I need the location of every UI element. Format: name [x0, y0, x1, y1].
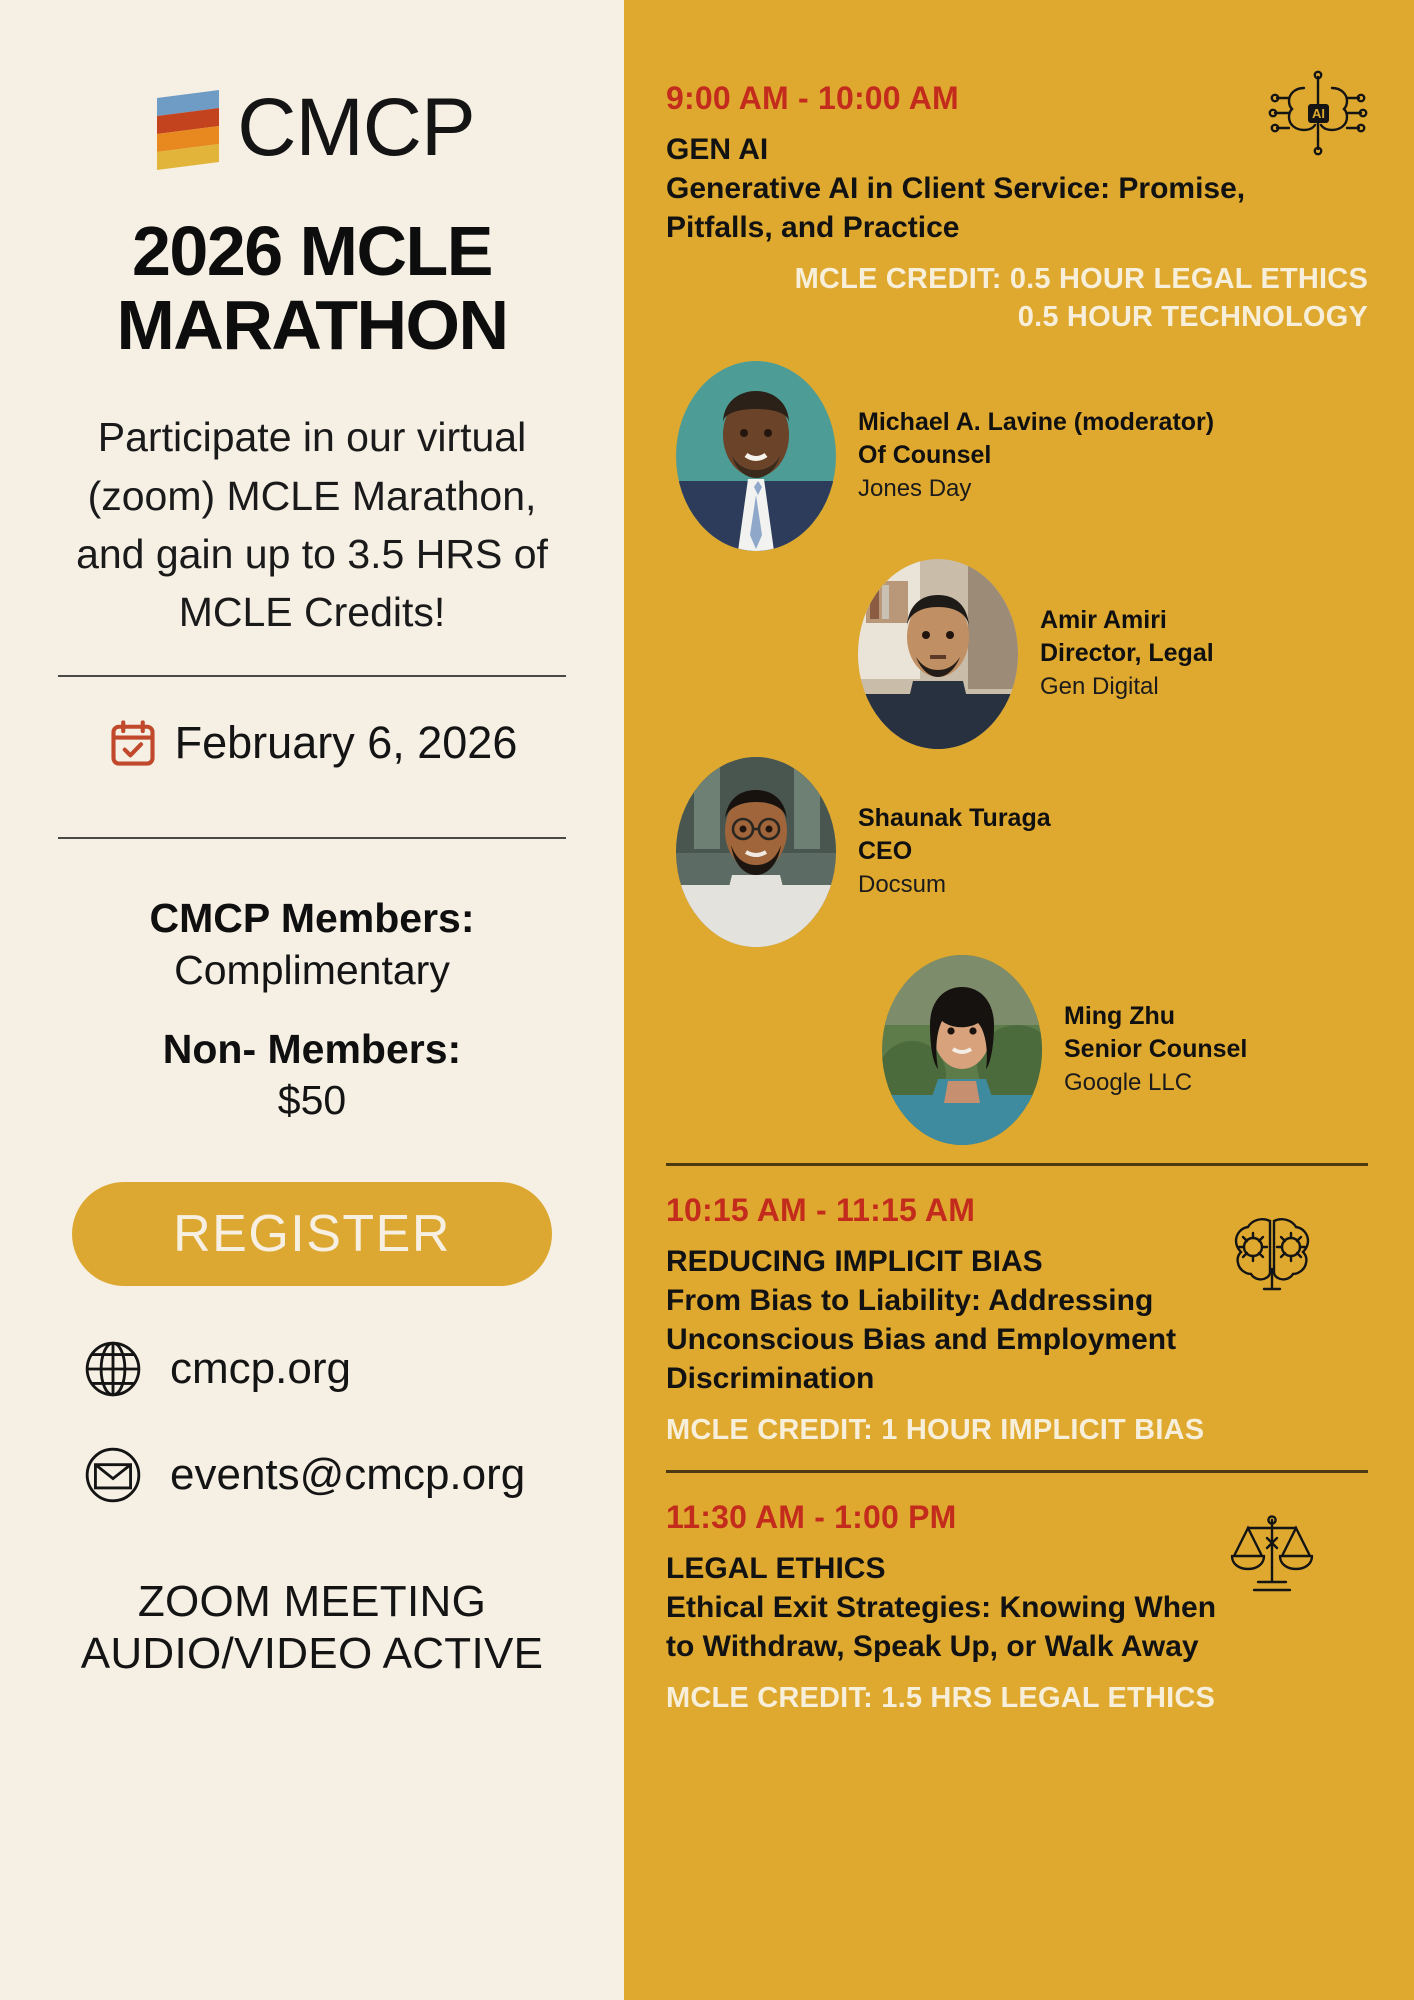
email-text: events@cmcp.org	[170, 1450, 525, 1500]
avatar	[676, 361, 836, 551]
session-1-header: 9:00 AM - 10:00 AM GEN AI Generative AI …	[666, 80, 1368, 247]
divider-bottom	[58, 837, 566, 839]
member-price-value: Complimentary	[58, 945, 566, 996]
speaker-role: Director, Legal	[1040, 637, 1214, 670]
speaker-info: Michael A. Lavine (moderator) Of Counsel…	[858, 406, 1214, 505]
speaker-card: Shaunak Turaga CEO Docsum	[666, 757, 1368, 947]
register-button-label: REGISTER	[173, 1204, 451, 1264]
speaker-org: Jones Day	[858, 473, 1214, 505]
speaker-name: Amir Amiri	[1040, 604, 1214, 637]
speaker-card: Ming Zhu Senior Counsel Google LLC	[666, 955, 1368, 1145]
pricing-block: CMCP Members: Complimentary Non- Members…	[58, 893, 566, 1126]
divider-top	[58, 675, 566, 677]
speaker-card: Amir Amiri Director, Legal Gen Digital	[666, 559, 1368, 749]
speaker-info: Amir Amiri Director, Legal Gen Digital	[1040, 604, 1214, 703]
session-divider	[666, 1163, 1368, 1166]
headshot-amir-amiri	[858, 559, 1018, 749]
avatar	[676, 757, 836, 947]
speaker-info: Shaunak Turaga CEO Docsum	[858, 802, 1051, 901]
speaker-card: Michael A. Lavine (moderator) Of Counsel…	[666, 361, 1368, 551]
left-info-panel: CMCP 2026 MCLE MARATHON Participate in o…	[0, 0, 624, 2000]
website-row[interactable]: cmcp.org	[58, 1338, 566, 1400]
speaker-name: Ming Zhu	[1064, 1000, 1247, 1033]
speaker-org: Docsum	[858, 869, 1051, 901]
page-title: 2026 MCLE MARATHON	[58, 214, 566, 362]
cmcp-logo: CMCP	[149, 86, 474, 170]
calendar-check-icon	[107, 717, 159, 769]
speaker-role: CEO	[858, 835, 1051, 868]
envelope-icon	[82, 1444, 144, 1506]
session-1-topic: GEN AI	[666, 131, 1258, 169]
zoom-meeting-note: ZOOM MEETING AUDIO/VIDEO ACTIVE	[58, 1576, 566, 1680]
session-1-title: Generative AI in Client Service: Promise…	[666, 169, 1258, 247]
session-1-credit-line-1: MCLE CREDIT: 0.5 HOUR LEGAL ETHICS	[666, 261, 1368, 299]
headshot-ming-zhu	[882, 955, 1042, 1145]
session-gen-ai: AI 9:00 AM - 10:00 AM GEN AI Generative …	[666, 80, 1368, 1145]
scales-of-justice-icon	[1222, 1510, 1322, 1600]
speaker-org: Gen Digital	[1040, 671, 1214, 703]
intro-paragraph: Participate in our virtual (zoom) MCLE M…	[62, 408, 562, 641]
session-divider	[666, 1470, 1368, 1473]
headshot-michael-lavine	[676, 361, 836, 551]
agenda-panel: AI 9:00 AM - 10:00 AM GEN AI Generative …	[624, 0, 1414, 2000]
cmcp-logo-text: CMCP	[237, 87, 474, 169]
session-3-credit: MCLE CREDIT: 1.5 HRS LEGAL ETHICS	[666, 1680, 1368, 1718]
globe-icon	[82, 1338, 144, 1400]
speaker-org: Google LLC	[1064, 1067, 1247, 1099]
event-date: February 6, 2026	[175, 717, 518, 769]
speaker-info: Ming Zhu Senior Counsel Google LLC	[1064, 1000, 1247, 1099]
session-legal-ethics: 11:30 AM - 1:00 PM LEGAL ETHICS Ethical …	[666, 1470, 1368, 1718]
session-3-title: Ethical Exit Strategies: Knowing When to…	[666, 1588, 1368, 1666]
nonmember-price-value: $50	[58, 1075, 566, 1126]
email-row[interactable]: events@cmcp.org	[58, 1444, 566, 1506]
speaker-role: Of Counsel	[858, 439, 1214, 472]
avatar	[858, 559, 1018, 749]
session-1-credit-line-2: 0.5 HOUR TECHNOLOGY	[666, 299, 1368, 337]
speaker-role: Senior Counsel	[1064, 1033, 1247, 1066]
event-date-row: February 6, 2026	[58, 717, 566, 769]
ai-brain-chip-icon: AI	[1268, 68, 1368, 158]
speaker-name: Michael A. Lavine (moderator)	[858, 406, 1214, 439]
session-1-time: 9:00 AM - 10:00 AM	[666, 80, 1258, 117]
member-price-label: CMCP Members:	[58, 893, 566, 944]
cmcp-logo-mark-icon	[149, 86, 227, 170]
headshot-shaunak-turaga	[676, 757, 836, 947]
session-2-title: From Bias to Liability: Addressing Uncon…	[666, 1281, 1368, 1398]
session-implicit-bias: 10:15 AM - 11:15 AM REDUCING IMPLICIT BI…	[666, 1163, 1368, 1450]
session-2-credit: MCLE CREDIT: 1 HOUR IMPLICIT BIAS	[666, 1412, 1368, 1450]
nonmember-price-label: Non- Members:	[58, 1024, 566, 1075]
website-text: cmcp.org	[170, 1344, 351, 1394]
mcle-marathon-flyer: CMCP 2026 MCLE MARATHON Participate in o…	[0, 0, 1414, 2000]
session-1-speaker-list: Michael A. Lavine (moderator) Of Counsel…	[666, 361, 1368, 1145]
brain-gears-icon	[1222, 1207, 1322, 1297]
svg-text:AI: AI	[1312, 106, 1325, 121]
avatar	[882, 955, 1042, 1145]
register-button[interactable]: REGISTER	[72, 1182, 552, 1286]
speaker-name: Shaunak Turaga	[858, 802, 1051, 835]
